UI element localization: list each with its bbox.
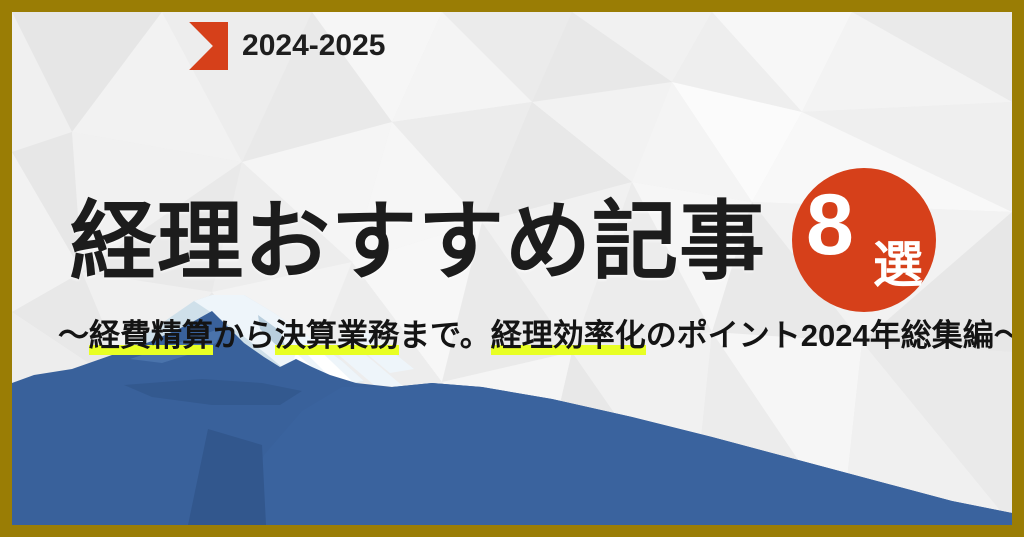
ribbon-label: 年末年始特集 [34, 34, 190, 59]
subtitle-segment: まで。 [399, 318, 491, 353]
subtitle-segment: のポイント2024年総集編〜 [646, 318, 1024, 353]
ribbon-year-range: 2024-2025 [242, 31, 385, 61]
page-title: 経理おすすめ記事 [70, 199, 766, 285]
subtitle-segment: から [213, 318, 275, 353]
subtitle-segment: 〜 [58, 318, 89, 353]
count-badge: 8 選 [792, 168, 936, 312]
feature-ribbon-row: 年末年始特集 2024-2025 [12, 22, 385, 70]
feature-ribbon: 年末年始特集 [12, 22, 228, 70]
subtitle-highlight-segment: 経費精算 [89, 318, 213, 355]
badge-number: 8 [806, 182, 854, 268]
subtitle-highlight-segment: 経理効率化 [491, 318, 646, 355]
badge-unit-label: 選 [873, 240, 923, 290]
banner-card: 年末年始特集 2024-2025 経理おすすめ記事 8 選 〜経費精算から決算業… [0, 0, 1024, 537]
subtitle-highlight-segment: 決算業務 [275, 318, 399, 355]
subtitle: 〜経費精算から決算業務まで。経理効率化のポイント2024年総集編〜 [58, 317, 1024, 356]
headline-row: 経理おすすめ記事 8 選 [70, 172, 936, 312]
